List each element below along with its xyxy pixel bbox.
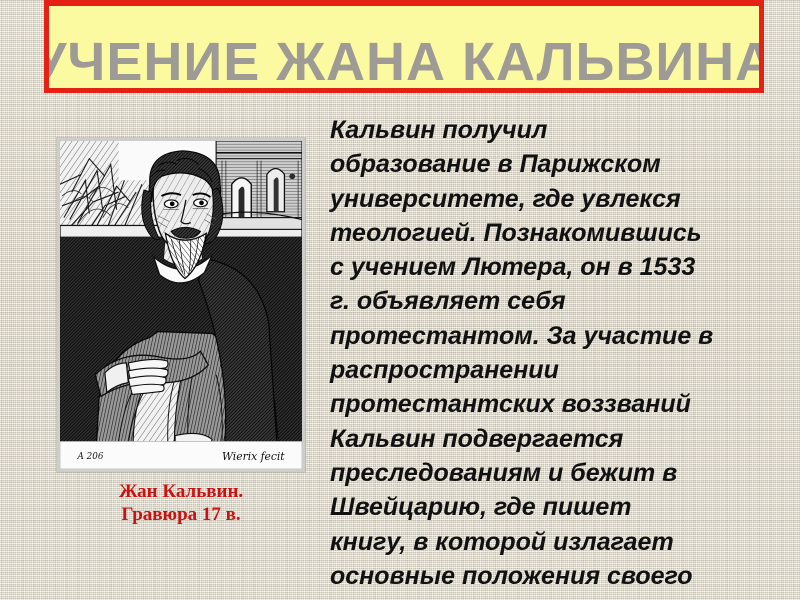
- body-line: преследованиям и бежит в: [330, 456, 750, 490]
- caption-line-2: Гравюра 17 в.: [57, 503, 305, 526]
- body-line: теологией. Познакомившись: [330, 216, 750, 250]
- body-line: учения.: [330, 593, 750, 600]
- portrait-caption: Жан Кальвин. Гравюра 17 в.: [57, 480, 305, 526]
- body-line: с учением Лютера, он в 1533: [330, 250, 750, 284]
- title-banner: УЧЕНИЕ ЖАНА КАЛЬВИНА: [44, 0, 764, 93]
- caption-line-1: Жан Кальвин.: [57, 480, 305, 503]
- body-line: Швейцарию, где пишет: [330, 490, 750, 524]
- body-line: распространении: [330, 353, 750, 387]
- body-line: образование в Парижском: [330, 147, 750, 181]
- svg-text:A 206: A 206: [77, 452, 104, 462]
- body-line: г. объявляет себя: [330, 284, 750, 318]
- body-line: Кальвин подвергается: [330, 422, 750, 456]
- body-line: Кальвин получил: [330, 113, 750, 147]
- body-line: книгу, в которой излагает: [330, 525, 750, 559]
- body-line: университете, где увлекся: [330, 182, 750, 216]
- body-line: протестантских воззваний: [330, 387, 750, 421]
- calvin-engraving-image: A 206 Wierix fecit: [60, 141, 302, 469]
- body-line: протестантом. За участие в: [330, 319, 750, 353]
- page-title: УЧЕНИЕ ЖАНА КАЛЬВИНА: [44, 35, 764, 89]
- presentation-slide: УЧЕНИЕ ЖАНА КАЛЬВИНА: [0, 0, 800, 600]
- svg-text:Wierix fecit: Wierix fecit: [222, 450, 285, 463]
- body-line: основные положения своего: [330, 559, 750, 593]
- body-paragraph: Кальвин получил образование в Парижском …: [330, 113, 750, 600]
- portrait-image-frame: A 206 Wierix fecit: [57, 138, 305, 472]
